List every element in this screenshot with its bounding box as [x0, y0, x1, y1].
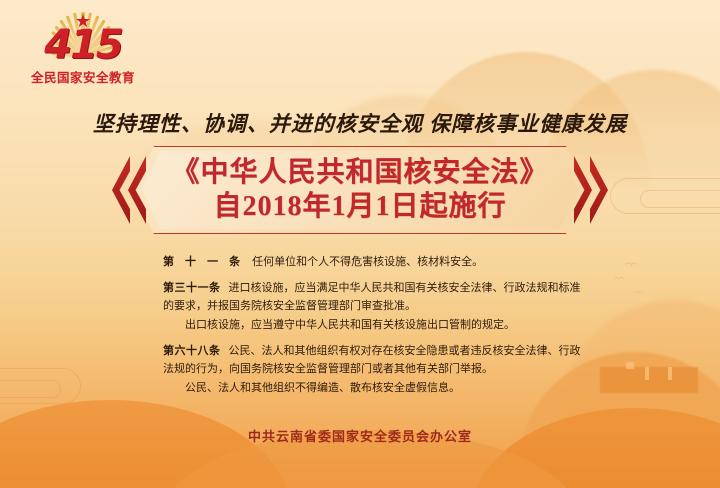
- article-label: 第三十一条: [163, 282, 221, 294]
- cloud-scroll-icon: [0, 368, 81, 404]
- article-label: 第六十八条: [163, 345, 221, 357]
- article-label: 第 十 一 条: [163, 256, 244, 268]
- great-wall-icon: [600, 367, 698, 393]
- logo-number: 415: [18, 24, 148, 66]
- great-wall-icon: [668, 367, 672, 380]
- headline-slogan: 坚持理性、协调、并进的核安全观 保障核事业健康发展: [0, 108, 720, 138]
- cloud-scroll-icon: [0, 380, 61, 398]
- title-line-1: 《中华人民共和国核安全法》: [152, 157, 568, 189]
- article-text: 公民、法人和其他组织有权对存在核安全隐患或者违反核安全法律、行政法规的行为，向国…: [163, 345, 581, 375]
- article-list: 第 十 一 条任何单位和个人不得危害核设施、核材料安全。第三十一条进口核设施，应…: [163, 253, 583, 405]
- title-banner: 《中华人民共和国核安全法》 自2018年1月1日起施行: [112, 146, 608, 234]
- article-subtext: 公民、法人和其他组织不得编造、散布核安全虚假信息。: [163, 379, 583, 397]
- double-chevron-left-icon: [112, 156, 152, 224]
- logo-subtitle: 全民国家安全教育: [18, 67, 148, 86]
- article-subtext: 出口核设施，应当遵守中华人民共和国有关核设施出口管制的规定。: [163, 316, 583, 334]
- hill-shape: [560, 300, 720, 420]
- article-text: 任何单位和个人不得危害核设施、核材料安全。: [252, 256, 483, 268]
- cloud-scroll-icon: [610, 178, 720, 214]
- cloud-scroll-icon: [640, 190, 720, 208]
- issuing-authority: 中共云南省委国家安全委员会办公室: [0, 426, 720, 445]
- article-text: 进口核设施，应当满足中华人民共和国有关核安全法律、行政法规和标准的要求，并报国务…: [163, 282, 581, 312]
- poster-canvas: ★ 415 全民国家安全教育 坚持理性、协调、并进的核安全观 保障核事业健康发展…: [0, 0, 720, 488]
- hill-shape: [470, 408, 720, 488]
- article-item: 第六十八条公民、法人和其他组织有权对存在核安全隐患或者违反核安全法律、行政法规的…: [163, 342, 583, 397]
- great-wall-icon: [645, 367, 649, 380]
- national-security-education-logo: ★ 415 全民国家安全教育: [18, 4, 148, 86]
- article-item: 第 十 一 条任何单位和个人不得危害核设施、核材料安全。: [163, 253, 583, 271]
- bird-icon: [614, 277, 620, 281]
- bird-icon: [625, 263, 632, 268]
- double-chevron-right-icon: [568, 156, 608, 224]
- title-line-2: 自2018年1月1日起施行: [152, 191, 568, 223]
- bird-icon: [634, 291, 639, 294]
- article-item: 第三十一条进口核设施，应当满足中华人民共和国有关核安全法律、行政法规和标准的要求…: [163, 279, 583, 334]
